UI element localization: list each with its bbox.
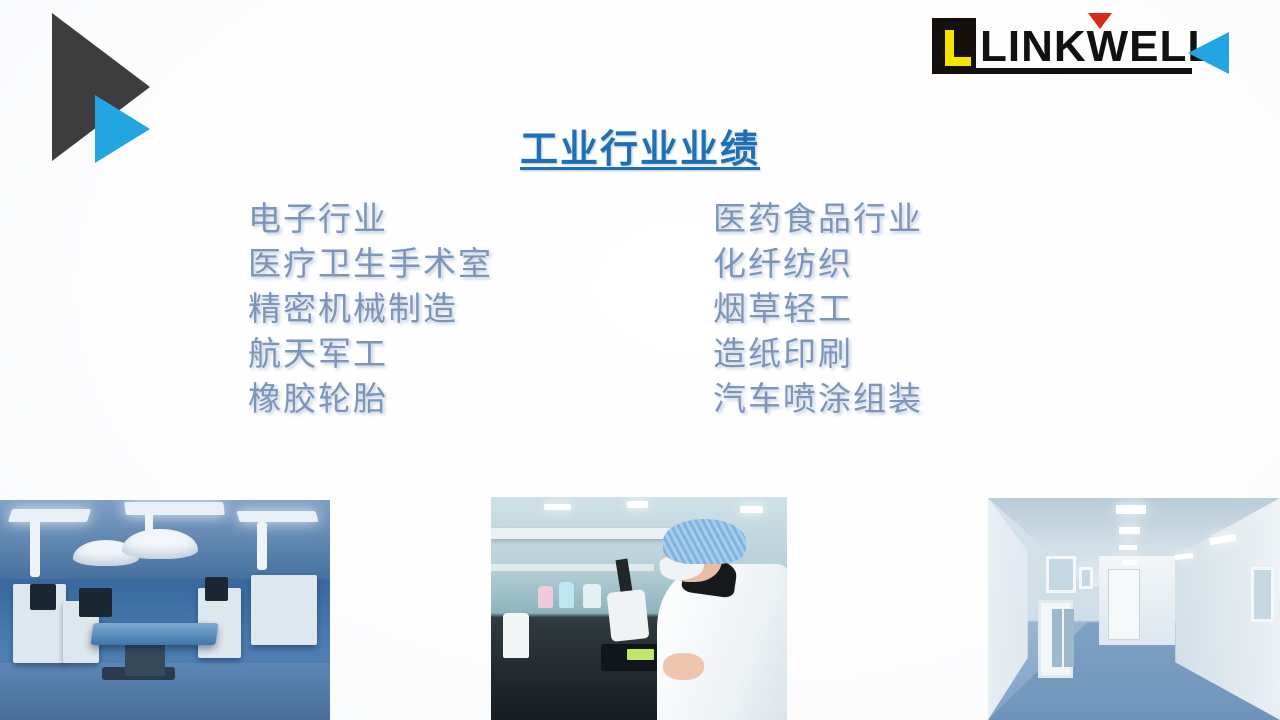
medical-cart bbox=[251, 575, 317, 645]
cleanroom-scene bbox=[988, 498, 1280, 720]
industry-lists: 电子行业 医疗卫生手术室 精密机械制造 航天军工 橡胶轮胎 医药食品行业 化纤纺… bbox=[0, 198, 1280, 438]
ceiling-light bbox=[544, 504, 571, 511]
ceiling-light bbox=[1122, 560, 1137, 565]
lab-shelf bbox=[491, 528, 675, 539]
list-item: 电子行业 bbox=[248, 198, 493, 243]
list-item: 汽车喷涂组装 bbox=[713, 378, 923, 423]
microscope-body bbox=[607, 589, 650, 642]
pass-through-glass bbox=[1064, 609, 1074, 667]
monitor-screen bbox=[205, 577, 228, 601]
page-title: 工业行业业绩 bbox=[0, 118, 1280, 173]
ceiling-light bbox=[1175, 553, 1193, 560]
microscope-display bbox=[627, 649, 654, 660]
list-item: 橡胶轮胎 bbox=[248, 378, 493, 423]
cleanroom-corridor-photo bbox=[988, 498, 1280, 720]
operating-room-scene bbox=[0, 500, 330, 720]
logo-letter-l-icon bbox=[945, 30, 971, 66]
view-window bbox=[1251, 567, 1274, 623]
pass-through-glass bbox=[1052, 609, 1062, 667]
presentation-slide: LINKWELL 工业行业业绩 电子行业 医疗卫生手术室 精密机械制造 航天军工… bbox=[0, 0, 1280, 720]
laboratory-microscope-photo bbox=[491, 497, 787, 720]
lab-shelf bbox=[491, 564, 654, 571]
logo-cyan-triangle-icon bbox=[1188, 32, 1229, 74]
list-item: 精密机械制造 bbox=[248, 288, 493, 333]
list-item: 医疗卫生手术室 bbox=[248, 243, 493, 288]
ceiling-light bbox=[627, 501, 648, 508]
ceiling-light bbox=[740, 506, 764, 513]
operating-table bbox=[91, 623, 219, 645]
ceiling-light bbox=[1119, 545, 1137, 551]
ceiling-light-panel bbox=[8, 509, 91, 522]
ceiling-light-panel bbox=[124, 502, 225, 515]
list-item: 航天军工 bbox=[248, 333, 493, 378]
technician-hand bbox=[663, 653, 704, 680]
list-item: 化纤纺织 bbox=[713, 243, 923, 288]
pendant-arm bbox=[257, 522, 267, 570]
logo-badge bbox=[932, 18, 976, 74]
technician-hair-net bbox=[663, 519, 746, 564]
reagent-bottle bbox=[538, 586, 553, 608]
view-window bbox=[1046, 556, 1075, 594]
industry-column-left: 电子行业 医疗卫生手术室 精密机械制造 航天军工 橡胶轮胎 bbox=[248, 198, 493, 423]
ceiling-light-panel bbox=[236, 511, 318, 522]
view-window bbox=[1079, 567, 1094, 589]
list-item: 医药食品行业 bbox=[713, 198, 923, 243]
logo-underline-bar bbox=[968, 68, 1192, 74]
ceiling-light bbox=[1119, 527, 1139, 534]
list-item: 烟草轻工 bbox=[713, 288, 923, 333]
industry-column-right: 医药食品行业 化纤纺织 烟草轻工 造纸印刷 汽车喷涂组装 bbox=[713, 198, 923, 423]
reagent-bottle bbox=[559, 582, 574, 609]
corridor-door bbox=[1108, 569, 1140, 640]
laboratory-scene bbox=[491, 497, 787, 720]
list-item: 造纸印刷 bbox=[713, 333, 923, 378]
pendant-arm bbox=[30, 520, 40, 577]
operating-table-base bbox=[125, 645, 165, 676]
reagent-bottle bbox=[583, 584, 601, 609]
monitor-screen bbox=[79, 588, 112, 617]
operating-room-photo bbox=[0, 500, 330, 720]
monitor-screen bbox=[30, 584, 56, 610]
linkwell-logo: LINKWELL bbox=[928, 12, 1236, 84]
logo-wordmark: LINKWELL bbox=[980, 22, 1215, 72]
reagent-bottle bbox=[503, 613, 530, 658]
ceiling-light bbox=[1116, 505, 1145, 514]
